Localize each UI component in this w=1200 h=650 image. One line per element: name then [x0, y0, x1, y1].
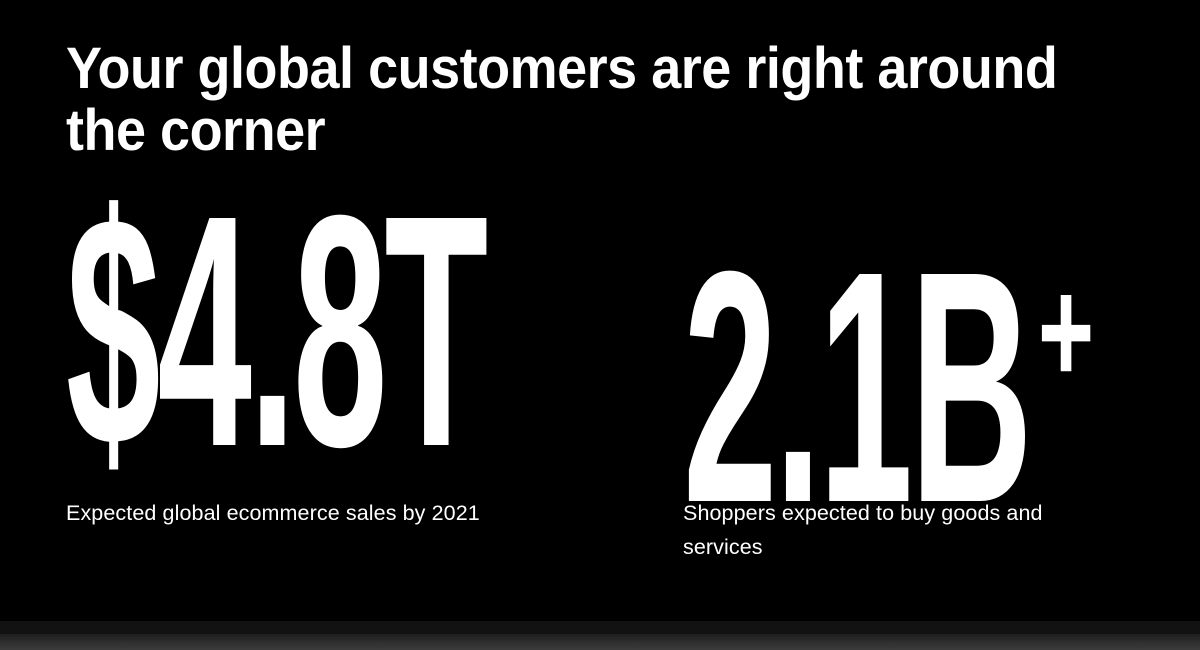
page-title: Your global customers are right around t…: [66, 38, 1061, 162]
stat-value: 2.1B+: [683, 186, 1083, 476]
bottom-edge-gradient: [0, 634, 1200, 650]
stat-block-ecommerce-sales: $4.8T Expected global ecommerce sales by…: [66, 186, 626, 586]
stat-value-suffix: +: [1038, 186, 1094, 476]
stat-caption: Shoppers expected to buy goods and servi…: [683, 496, 1123, 564]
stats-row: $4.8T Expected global ecommerce sales by…: [0, 186, 1200, 586]
stats-slide: Your global customers are right around t…: [0, 0, 1200, 650]
stat-value-number: $4.8T: [66, 146, 485, 515]
stat-block-shoppers: 2.1B+ Shoppers expected to buy goods and…: [683, 186, 1200, 586]
bottom-edge-band: [0, 621, 1200, 634]
stat-caption: Expected global ecommerce sales by 2021: [66, 496, 506, 530]
stat-value: $4.8T: [66, 186, 493, 476]
